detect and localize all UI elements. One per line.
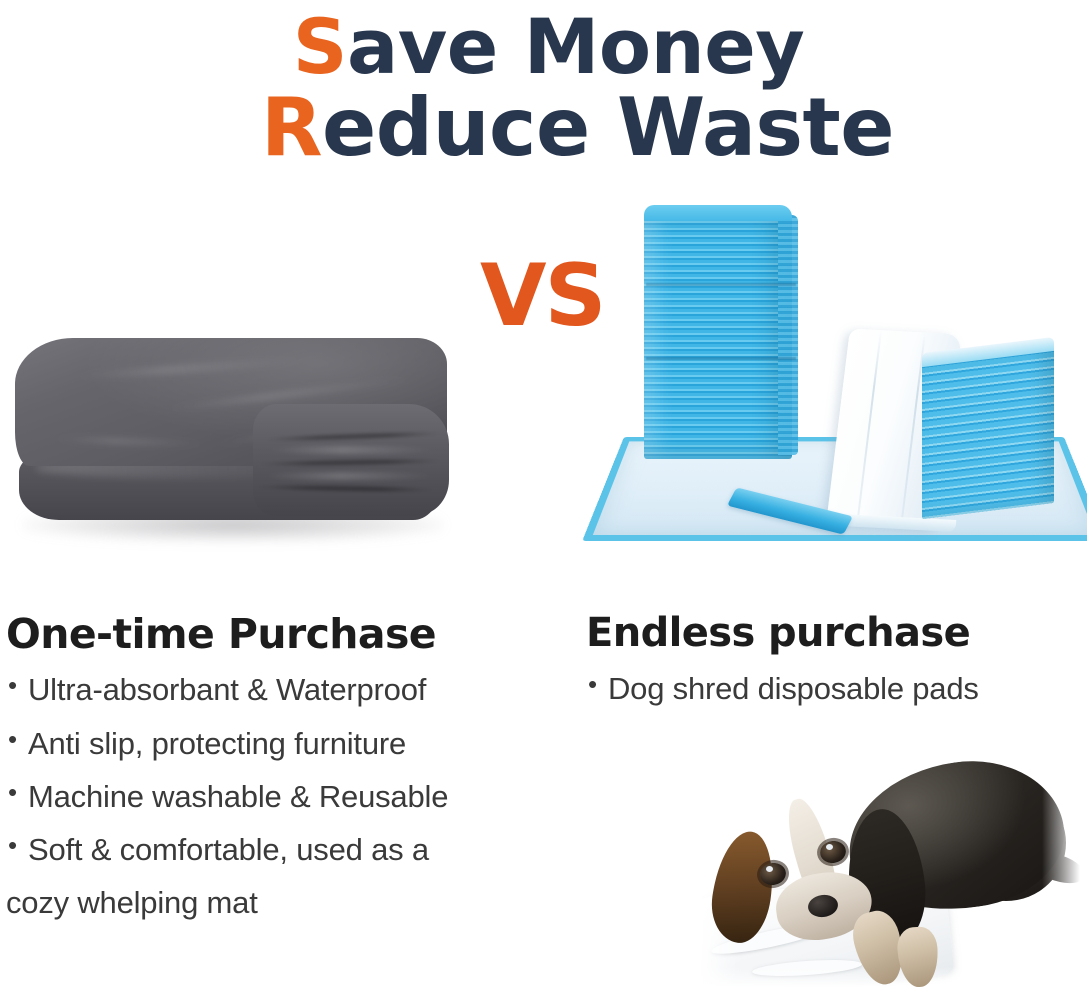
fanned-pad-stack — [922, 343, 1054, 519]
tall-pad-stack — [644, 211, 792, 459]
list-item: Anti slip, protecting furniture — [6, 724, 576, 764]
list-item: Dog shred disposable pads — [586, 669, 1081, 709]
headline-accent-letter-s: S — [293, 2, 347, 91]
blanket-crease — [55, 435, 205, 447]
left-column-bullet-list: Ultra-absorbant & Waterproof Anti slip, … — [6, 670, 576, 923]
disposable-pee-pads-image — [612, 205, 1082, 585]
puppy-eye-glint-right — [826, 844, 833, 850]
pad-stack-seam — [646, 357, 796, 360]
tall-pad-stack-side — [778, 215, 798, 455]
right-column-title: Endless purchase — [586, 612, 1081, 655]
pad-stack-seam — [646, 283, 796, 286]
blanket-crease — [75, 356, 305, 381]
versus-label: VS — [480, 253, 605, 339]
headline-accent-letter-r: R — [261, 81, 322, 174]
left-feature-column: One-time Purchase Ultra-absorbant & Wate… — [6, 612, 576, 937]
headline-block: Save Money Reduce Waste — [0, 0, 1087, 180]
headline-line2-rest: educe Waste — [322, 81, 894, 174]
infographic-page: Save Money Reduce Waste VS — [0, 0, 1087, 991]
list-item: Soft & comfortable, used as a — [6, 830, 576, 870]
list-item: Ultra-absorbant & Waterproof — [6, 670, 576, 710]
left-column-title: One-time Purchase — [6, 612, 576, 656]
list-item: Machine washable & Reusable — [6, 777, 576, 817]
blanket-roll-highlight — [263, 472, 435, 480]
tall-pad-stack-top — [644, 205, 792, 221]
headline-line-save-money: Save Money — [0, 9, 1087, 85]
draped-pad-fold — [856, 330, 882, 525]
right-feature-column: Endless purchase Dog shred disposable pa… — [586, 612, 1081, 722]
folded-gray-fleece-blanket-image — [5, 330, 455, 580]
headline-line1-rest: ave Money — [347, 2, 804, 91]
beagle-puppy-shredding-pad-image — [700, 735, 1080, 987]
blanket-roll-highlight — [267, 446, 435, 454]
puppy-eye-glint-left — [766, 866, 773, 872]
list-item-continuation: cozy whelping mat — [6, 883, 576, 923]
headline-line-reduce-waste: Reduce Waste — [0, 88, 1087, 168]
right-column-bullet-list: Dog shred disposable pads — [586, 669, 1081, 709]
